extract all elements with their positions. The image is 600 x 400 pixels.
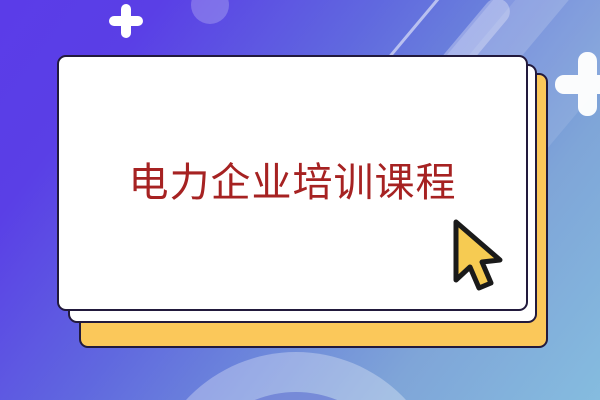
concentric-ring-inner <box>186 392 406 400</box>
plus-large-icon <box>555 52 600 116</box>
circle-dot-icon <box>191 0 229 24</box>
plus-small-icon <box>109 4 143 38</box>
concentric-ring-outer <box>146 352 446 400</box>
mouse-pointer-icon <box>446 218 508 296</box>
slide-canvas: 电力企业培训课程 <box>0 0 600 400</box>
slide-title: 电力企业培训课程 <box>129 163 457 203</box>
